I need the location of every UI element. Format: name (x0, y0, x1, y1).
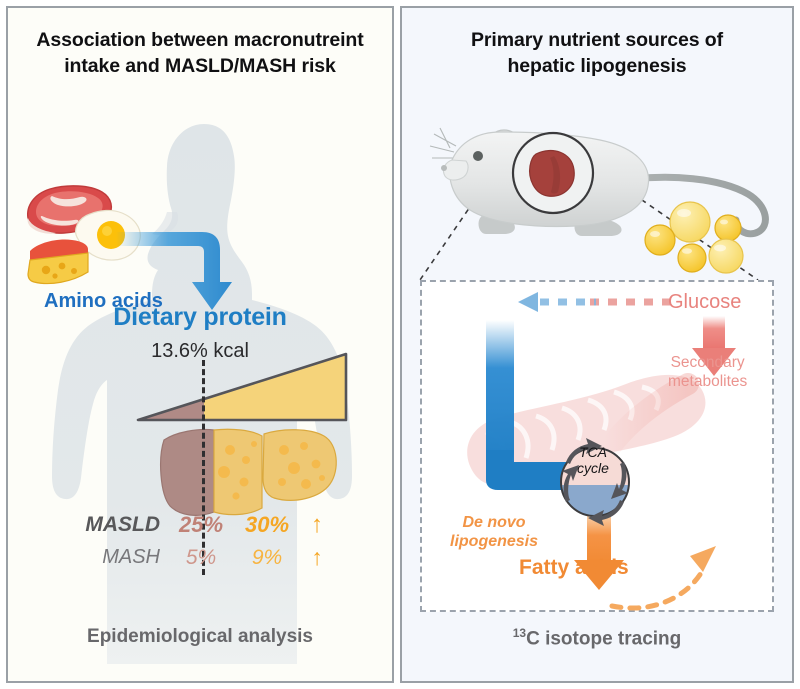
stat-after-masld: 30% (232, 512, 302, 538)
glucose-label: Glucose (668, 291, 741, 314)
de-novo-line-1: De novo (450, 513, 538, 532)
table-row: MASLD 25% 30% ↑ (60, 508, 340, 541)
risk-wedge-chart (136, 348, 368, 424)
liver-illustration (158, 416, 363, 521)
table-row: MASH 5% 9% ↑ (60, 541, 340, 574)
risk-stats-table: MASLD 25% 30% ↑ MASH 5% 9% ↑ (60, 508, 340, 574)
isotope-caption-text: C isotope tracing (526, 628, 681, 649)
left-panel-caption: Epidemiological analysis (8, 626, 392, 648)
right-title-line-1: Primary nutrient sources of (402, 28, 792, 54)
secondary-metabolites-line-2: metabolites (668, 373, 747, 392)
de-novo-line-2: lipogenesis (450, 532, 538, 551)
fatty-acids-label: Fatty acids (519, 556, 629, 580)
left-panel-title: Association between macronutreint intake… (8, 28, 392, 79)
amino-acids-label: Amino acids (44, 290, 163, 313)
cheese-wedge-icon (28, 240, 88, 284)
lipid-droplets-icon (644, 198, 762, 284)
right-panel-caption: 13C isotope tracing (402, 626, 792, 650)
stat-before-masld: 25% (170, 512, 232, 538)
stat-name-mash: MASH (60, 546, 170, 569)
right-panel-title: Primary nutrient sources of hepatic lipo… (402, 28, 792, 79)
up-arrow-icon: ↑ (302, 544, 332, 571)
amino-glucose-connector (518, 292, 670, 312)
up-arrow-icon: ↑ (302, 511, 332, 539)
tca-label-line-2: cycle (563, 461, 623, 477)
secondary-metabolites-line-1: Secondary (668, 354, 747, 373)
tca-label-line-1: TCA (563, 445, 623, 461)
tca-cycle-label: TCA cycle (563, 445, 623, 476)
stat-name-masld: MASLD (60, 513, 170, 537)
graphical-abstract: Association between macronutreint intake… (0, 0, 800, 689)
de-novo-lipogenesis-label: De novo lipogenesis (450, 513, 538, 551)
left-title-line-1: Association between macronutreint (8, 28, 392, 54)
secondary-metabolites-label: Secondary metabolites (668, 354, 747, 392)
left-title-line-2: intake and MASLD/MASH risk (8, 54, 392, 80)
left-panel: Association between macronutreint intake… (6, 6, 394, 683)
isotope-superscript: 13 (513, 626, 526, 640)
right-panel: Primary nutrient sources of hepatic lipo… (400, 6, 794, 683)
stat-before-mash: 5% (170, 546, 232, 570)
stat-after-mash: 9% (232, 546, 302, 570)
right-title-line-2: hepatic lipogenesis (402, 54, 792, 80)
